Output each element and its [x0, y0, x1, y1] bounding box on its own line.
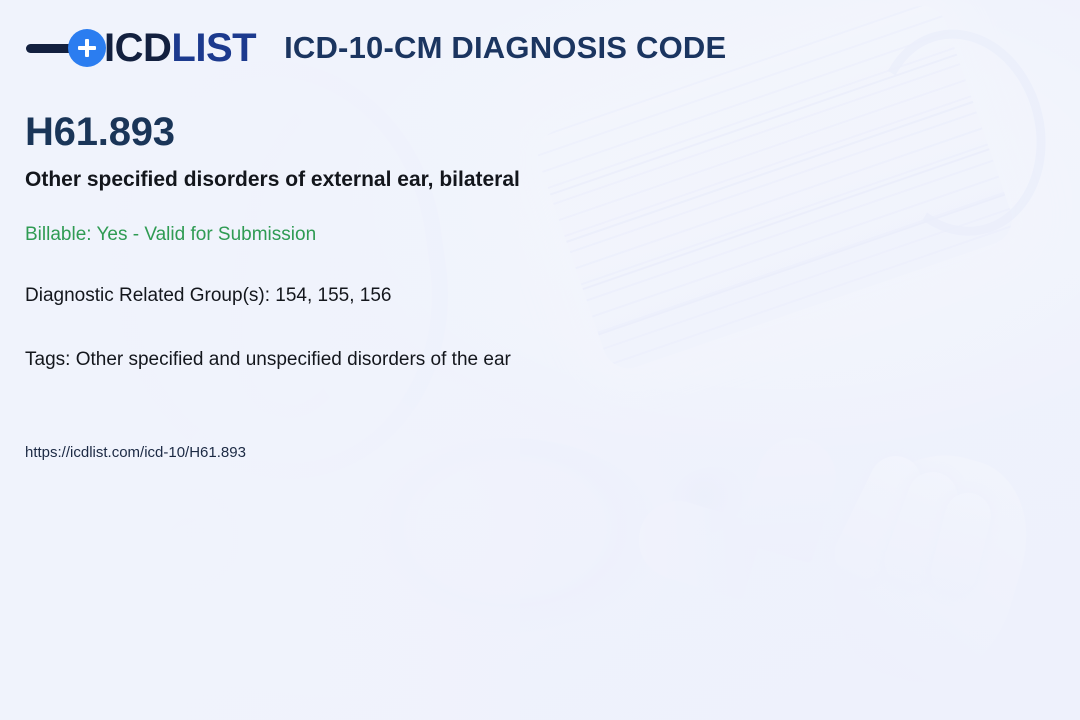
page-header: ICDLIST ICD-10-CM DIAGNOSIS CODE [26, 28, 726, 68]
icdlist-logo[interactable]: ICDLIST [26, 28, 256, 68]
logo-word-list: LIST [171, 26, 256, 70]
dash-icon [26, 44, 74, 53]
icd-code-card: ICDLIST ICD-10-CM DIAGNOSIS CODE H61.893… [0, 0, 1080, 720]
billable-status-badge: Billable: Yes - Valid for Submission [25, 224, 316, 246]
diagnosis-description: Other specified disorders of external ea… [25, 168, 520, 192]
page-title: ICD-10-CM DIAGNOSIS CODE [284, 30, 726, 66]
plus-icon [68, 29, 106, 67]
source-url[interactable]: https://icdlist.com/icd-10/H61.893 [25, 444, 246, 461]
logo-word-icd: ICD [104, 26, 171, 70]
diagnostic-related-groups: Diagnostic Related Group(s): 154, 155, 1… [25, 285, 392, 307]
tags-line: Tags: Other specified and unspecified di… [25, 349, 511, 371]
diagnosis-code: H61.893 [25, 110, 175, 155]
